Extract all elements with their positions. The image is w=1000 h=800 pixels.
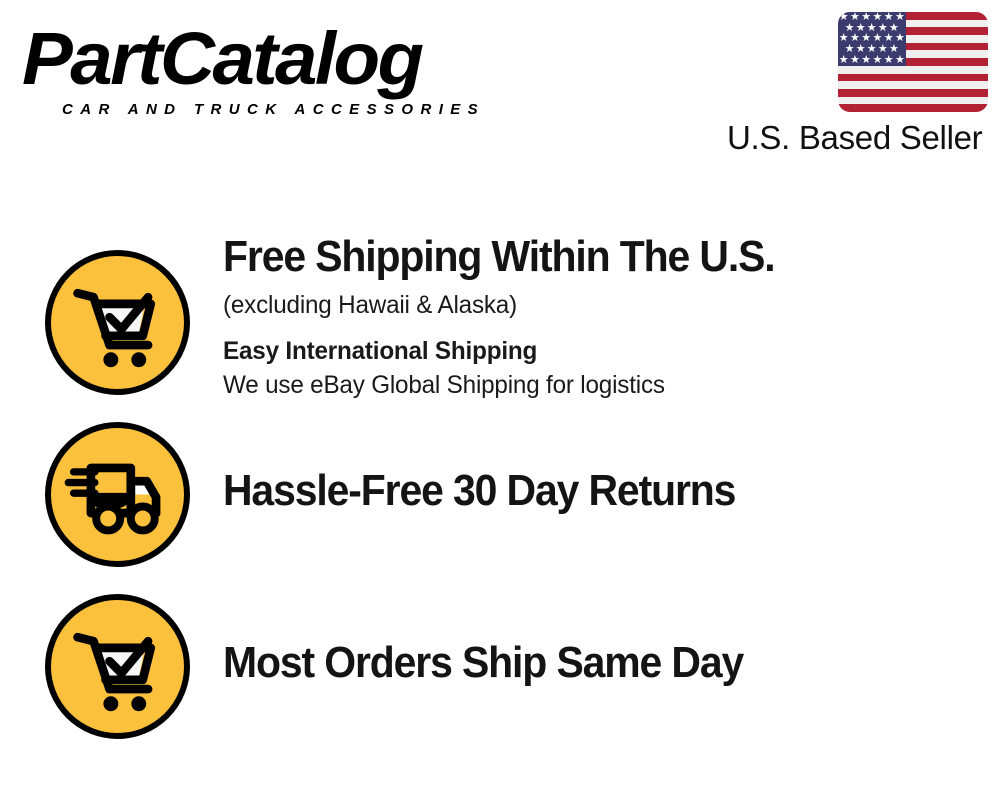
shopping-cart-check-icon xyxy=(45,250,190,395)
feature-title: Hassle-Free 30 Day Returns xyxy=(223,466,936,516)
brand-tagline: CAR AND TRUCK ACCESSORIES xyxy=(62,102,485,118)
flag-stripe xyxy=(838,81,988,89)
feature-text-block: Most Orders Ship Same Day xyxy=(223,638,990,688)
feature-text-block: Hassle-Free 30 Day Returns xyxy=(223,466,990,516)
feature-text-block: Free Shipping Within The U.S. (excluding… xyxy=(223,232,990,402)
flag-stripe xyxy=(838,97,988,105)
feature-row: Most Orders Ship Same Day xyxy=(0,592,1000,742)
feature-subtitle: We use eBay Global Shipping for logistic… xyxy=(223,368,967,402)
shopping-cart-check-icon xyxy=(45,594,190,739)
feature-row: Hassle-Free 30 Day Returns xyxy=(0,420,1000,570)
brand-wordmark: PartCatalog xyxy=(22,22,421,96)
flag-canton: ★★★★★★ ★★★★★ ★★★★★★ ★★★★★ ★★★★★★ xyxy=(838,12,906,66)
delivery-truck-icon xyxy=(45,422,190,567)
flag-stripe xyxy=(838,74,988,82)
brand-logo: PartCatalog CAR AND TRUCK ACCESSORIES xyxy=(22,22,492,117)
seller-caption: U.S. Based Seller xyxy=(727,119,982,157)
flag-stripe xyxy=(838,104,988,112)
feature-row: Free Shipping Within The U.S. (excluding… xyxy=(0,232,1000,412)
feature-subtitle: (excluding Hawaii & Alaska) xyxy=(223,288,967,322)
feature-title: Free Shipping Within The U.S. xyxy=(223,232,936,282)
flag-star-row: ★★★★★★ xyxy=(838,55,906,66)
flag-stripe xyxy=(838,89,988,97)
us-flag-icon: ★★★★★★ ★★★★★ ★★★★★★ ★★★★★ ★★★★★★ xyxy=(838,12,988,112)
flag-stripe xyxy=(838,66,988,74)
feature-subtitle-bold: Easy International Shipping xyxy=(223,334,967,368)
feature-title: Most Orders Ship Same Day xyxy=(223,638,936,688)
